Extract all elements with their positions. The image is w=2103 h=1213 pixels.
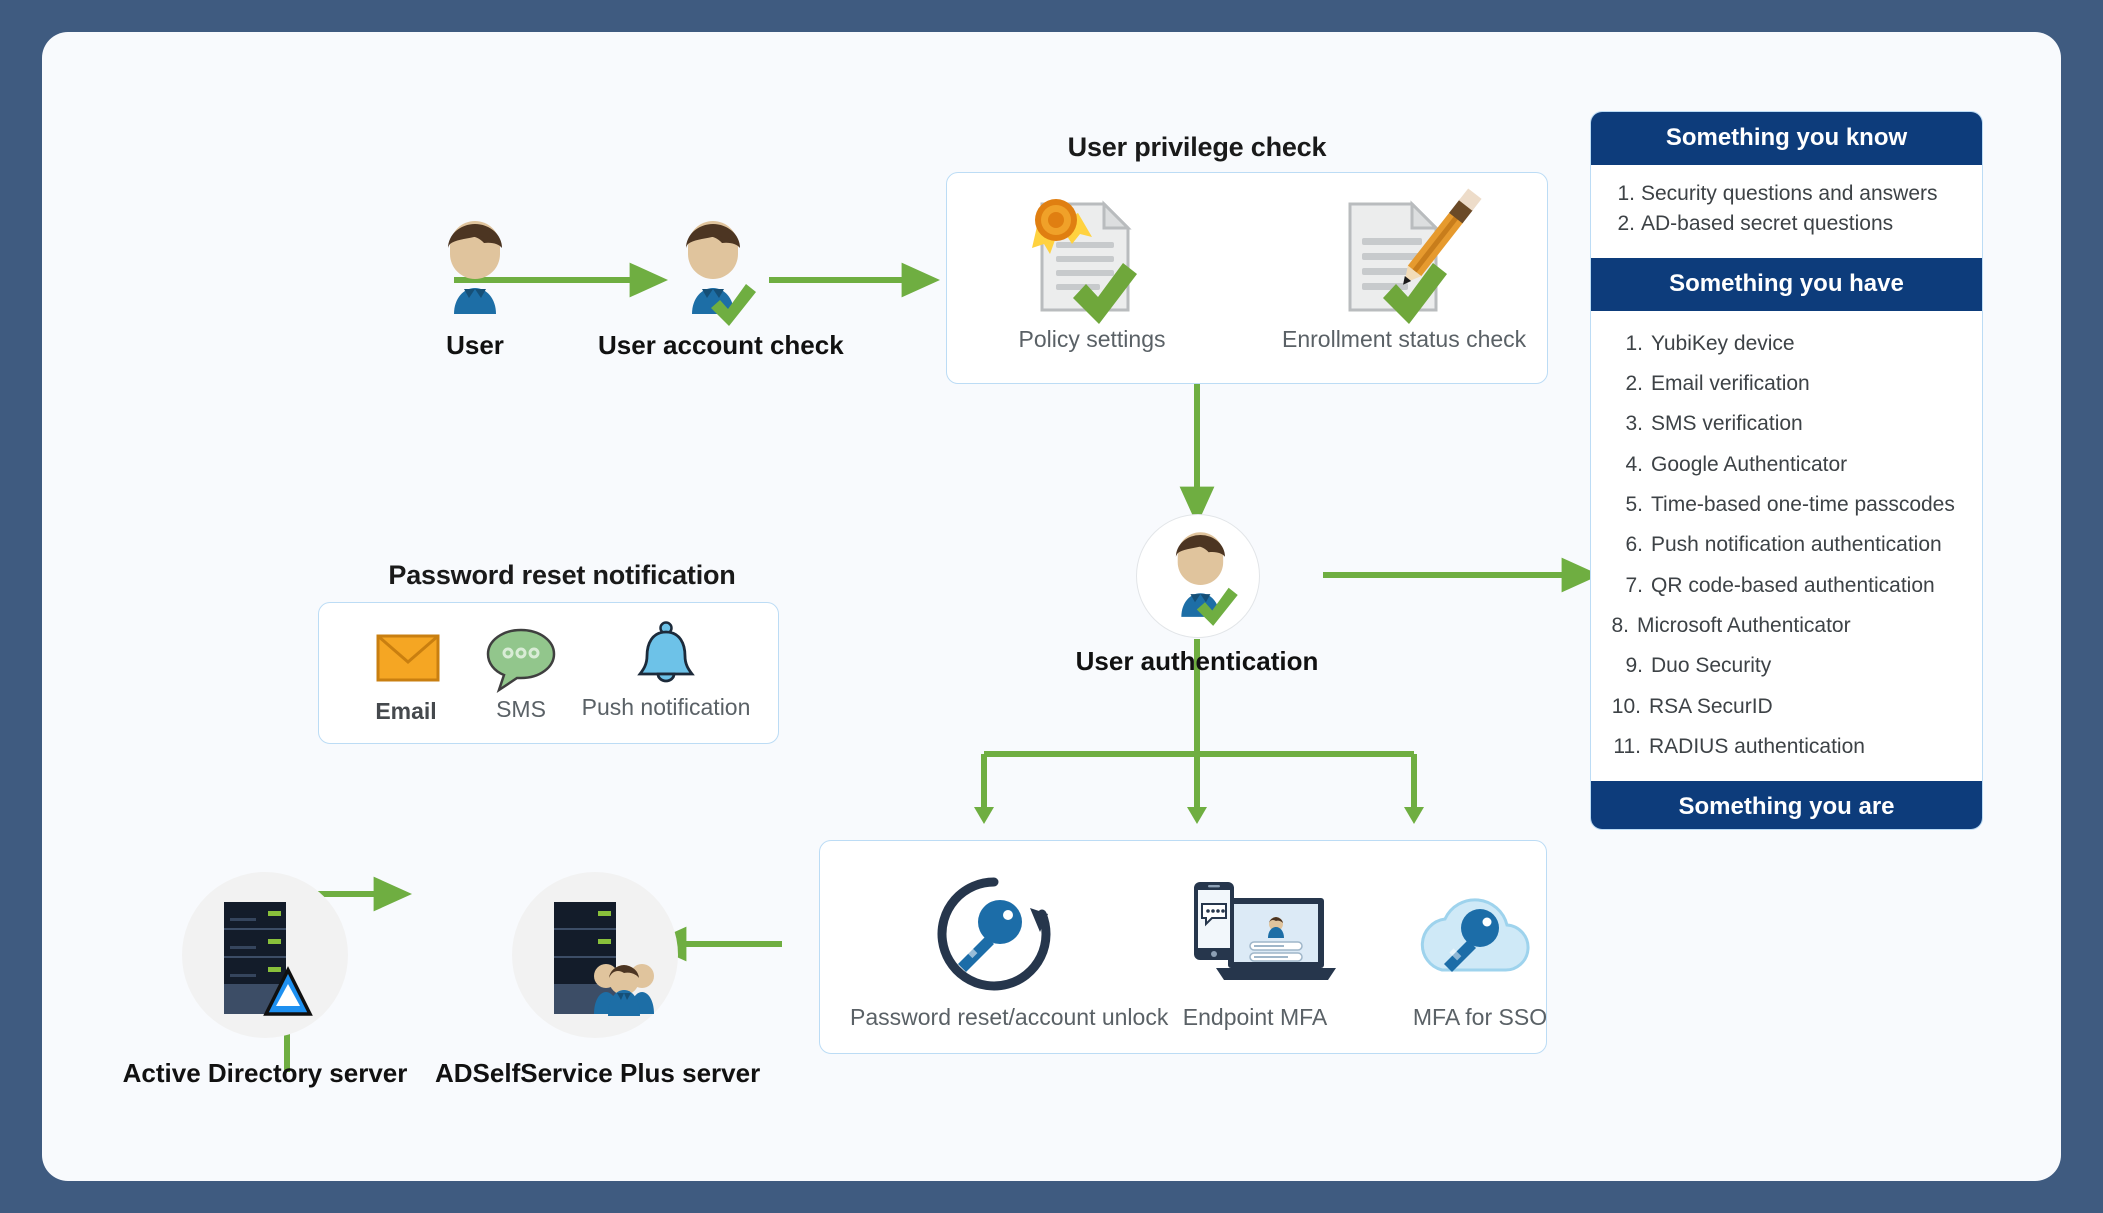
list-item-number: 8.	[1609, 612, 1629, 640]
chat-bubble-icon	[466, 624, 576, 692]
password-reset-notification-heading: Password reset notification	[342, 560, 782, 591]
factor-list-something-you-have: 1. YubiKey device 2. Email verification …	[1591, 311, 1982, 782]
list-item-number: 9.	[1609, 652, 1643, 680]
authentication-factors-panel: Something you know 1. Security questions…	[1590, 111, 1983, 830]
document-award-check-icon	[992, 194, 1192, 316]
document-pencil-check-icon	[1282, 194, 1522, 316]
active-directory-server-label: Active Directory server	[105, 1058, 425, 1089]
password-reset-account-unlock-label: Password reset/account unlock	[850, 1004, 1140, 1031]
user-account-check-label: User account check	[598, 330, 828, 361]
node-active-directory-server	[182, 872, 348, 1038]
node-user-account-check: User account check	[598, 218, 828, 358]
list-item-label: Duo Security	[1651, 652, 1966, 680]
list-item: 2. AD-based secret questions	[1591, 209, 1982, 239]
push-notification-label: Push notification	[576, 694, 756, 721]
list-item-number: 1.	[1609, 330, 1643, 358]
list-item: 7. QR code-based authentication	[1591, 566, 1982, 606]
list-item: 11. RADIUS authentication	[1591, 727, 1982, 767]
key-refresh-icon	[850, 872, 1140, 990]
factor-heading-something-you-have: Something you have	[1591, 258, 1982, 311]
list-item-label: Push notification authentication	[1651, 531, 1966, 559]
list-item-label: Email verification	[1651, 370, 1966, 398]
adselfservice-plus-server-icon	[512, 872, 678, 1038]
node-user-authentication	[1136, 514, 1258, 636]
list-item: 2. Email verification	[1591, 364, 1982, 404]
list-item: 9. Duo Security	[1591, 646, 1982, 686]
list-item-number: 2.	[1609, 370, 1643, 398]
factor-heading-something-you-know: Something you know	[1591, 112, 1982, 165]
user-privilege-check-heading: User privilege check	[982, 132, 1412, 163]
factor-list-something-you-know: 1. Security questions and answers 2. AD-…	[1591, 165, 1982, 258]
list-item-number: 1.	[1609, 180, 1635, 208]
list-item-number: 2.	[1609, 210, 1635, 238]
list-item-label: Security questions and answers	[1641, 180, 1966, 208]
list-item: 5. Time-based one-time passcodes	[1591, 485, 1982, 525]
user-verified-icon	[1136, 514, 1258, 636]
list-item: 6. Push notification authentication	[1591, 525, 1982, 565]
user-verified-icon	[598, 218, 828, 318]
list-item-label: RADIUS authentication	[1649, 733, 1966, 761]
list-item: 3. SMS verification	[1591, 404, 1982, 444]
list-item-number: 4.	[1609, 451, 1643, 479]
list-item-label: AD-based secret questions	[1641, 210, 1966, 238]
list-item-label: YubiKey device	[1651, 330, 1966, 358]
list-item: 1. Security questions and answers	[1591, 179, 1982, 209]
laptop-phone-login-icon	[1140, 872, 1370, 990]
list-item-number: 10.	[1609, 693, 1641, 721]
cloud-key-icon	[1370, 872, 1590, 990]
email-label: Email	[346, 698, 466, 725]
sms-label: SMS	[466, 696, 576, 723]
list-item-number: 3.	[1609, 410, 1643, 438]
list-item: 10. RSA SecurID	[1591, 687, 1982, 727]
list-item: 8. Microsoft Authenticator	[1591, 606, 1982, 646]
node-user: User	[420, 218, 530, 358]
adselfservice-plus-server-label: ADSelfService Plus server	[435, 1058, 755, 1089]
diagram-card: User User account check User privilege c…	[42, 32, 2061, 1181]
list-item-number: 11.	[1609, 733, 1641, 761]
node-adselfservice-plus-server	[512, 872, 678, 1038]
list-item-number: 6.	[1609, 531, 1643, 559]
notification-item-email: Email	[346, 628, 466, 738]
factor-heading-something-you-are: Something you are	[1591, 781, 1982, 830]
endpoint-mfa-label: Endpoint MFA	[1140, 1004, 1370, 1031]
active-directory-server-icon	[182, 872, 348, 1038]
list-item-label: Google Authenticator	[1651, 451, 1966, 479]
enrollment-status-check-label: Enrollment status check	[1282, 326, 1522, 353]
user-icon	[420, 218, 530, 318]
policy-settings-label: Policy settings	[992, 326, 1192, 353]
list-item-label: Microsoft Authenticator	[1637, 612, 1966, 640]
list-item-label: QR code-based authentication	[1651, 572, 1966, 600]
privilege-item-enrollment-status: Enrollment status check	[1282, 194, 1522, 374]
notification-item-sms: SMS	[466, 624, 576, 734]
list-item: 4. Google Authenticator	[1591, 445, 1982, 485]
bell-icon	[576, 620, 756, 688]
action-item-endpoint-mfa: Endpoint MFA	[1140, 872, 1370, 1042]
list-item-number: 5.	[1609, 491, 1643, 519]
list-item-label: SMS verification	[1651, 410, 1966, 438]
privilege-item-policy-settings: Policy settings	[992, 194, 1192, 374]
user-label: User	[420, 330, 530, 361]
notification-item-push: Push notification	[576, 620, 756, 730]
user-authentication-label: User authentication	[1027, 646, 1367, 677]
action-item-mfa-for-sso: MFA for SSO	[1370, 872, 1590, 1042]
mfa-for-sso-label: MFA for SSO	[1370, 1004, 1590, 1031]
list-item-label: RSA SecurID	[1649, 693, 1966, 721]
list-item-number: 7.	[1609, 572, 1643, 600]
list-item: 1. YubiKey device	[1591, 324, 1982, 364]
action-item-password-reset: Password reset/account unlock	[850, 872, 1140, 1042]
list-item-label: Time-based one-time passcodes	[1651, 491, 1966, 519]
envelope-icon	[346, 628, 466, 690]
